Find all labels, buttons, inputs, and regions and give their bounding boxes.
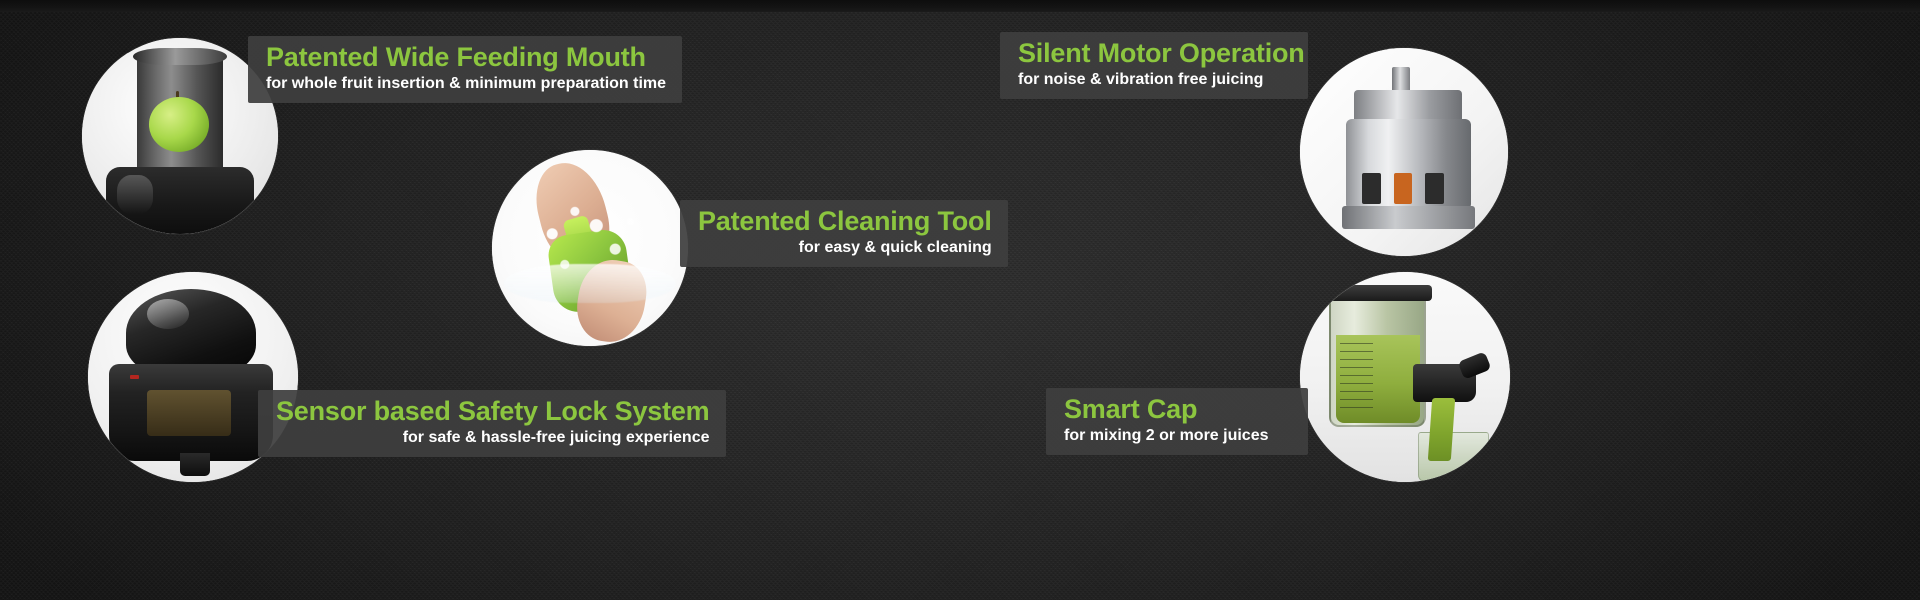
green-apple-shape — [149, 97, 210, 152]
label-plate-silent-motor: Silent Motor Operation for noise & vibra… — [1000, 32, 1308, 99]
jug-lid-shape — [1323, 285, 1432, 302]
top-edge-strip — [0, 0, 1920, 12]
feature-title: Smart Cap — [1064, 395, 1292, 423]
motor-vent-shape — [1394, 173, 1413, 204]
label-plate-smart-cap: Smart Cap for mixing 2 or more juices — [1046, 388, 1308, 455]
silent-motor-photo — [1300, 48, 1508, 256]
feature-subtitle: for safe & hassle-free juicing experienc… — [276, 428, 710, 447]
feature-title: Sensor based Safety Lock System — [276, 397, 710, 425]
label-plate-safety-lock: Sensor based Safety Lock System for safe… — [258, 390, 726, 457]
water-band-shape — [504, 264, 676, 303]
sensor-indicator-shape — [130, 375, 139, 379]
label-plate-wide-feeding-mouth: Patented Wide Feeding Mouth for whole fr… — [248, 36, 682, 103]
feature-title: Patented Wide Feeding Mouth — [266, 43, 666, 71]
feature-subtitle: for mixing 2 or more juices — [1064, 426, 1292, 445]
feature-title: Patented Cleaning Tool — [698, 207, 992, 235]
jug-measurement-marks — [1340, 343, 1374, 414]
cleaning-tool-photo — [492, 150, 688, 346]
smart-cap-lever-shape — [1457, 351, 1491, 380]
feature-subtitle: for noise & vibration free juicing — [1018, 70, 1292, 89]
feature-title: Silent Motor Operation — [1018, 39, 1292, 67]
feature-subtitle: for easy & quick cleaning — [698, 238, 992, 257]
juice-pour-stream-shape — [1428, 398, 1455, 461]
feature-subtitle: for whole fruit insertion & minimum prep… — [266, 74, 666, 93]
motor-vent-shape — [1362, 173, 1381, 204]
feeding-chute-lip-shape — [133, 48, 227, 66]
label-plate-cleaning-tool: Patented Cleaning Tool for easy & quick … — [680, 200, 1008, 267]
dome-highlight-shape — [147, 299, 189, 328]
feature-banner: Patented Wide Feeding Mouth for whole fr… — [0, 0, 1920, 600]
bowl-window-shape — [147, 390, 231, 436]
base-highlight-shape — [117, 175, 152, 214]
motor-vent-shape — [1425, 173, 1444, 204]
motor-base-shape — [1342, 206, 1475, 229]
smart-cap-photo — [1300, 272, 1510, 482]
juicer-spout-shape — [180, 453, 209, 476]
